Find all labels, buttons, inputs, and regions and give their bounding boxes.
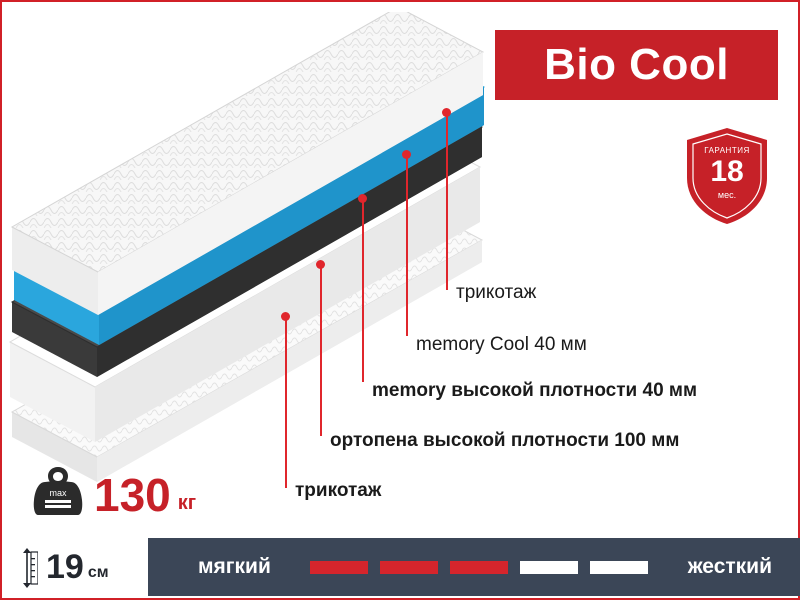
weight-max-icon: max [32,464,84,518]
leader-line-2 [406,154,408,336]
firmness-hard-label: жесткий [688,555,772,579]
product-title-badge: Bio Cool [495,30,778,100]
leader-line-4 [320,264,322,436]
layer-label-1: трикотаж [456,282,536,304]
guarantee-value: 18 [683,156,771,188]
leader-dot-1 [442,108,451,117]
max-weight-value: 130 [94,472,171,518]
height-block: 19 см [4,538,148,596]
max-weight-block: max 130 кг [32,464,196,518]
leader-line-5 [285,316,287,488]
firmness-soft-label: мягкий [198,555,271,579]
leader-dot-3 [358,194,367,203]
leader-dot-5 [281,312,290,321]
weight-icon-text: max [49,488,67,498]
guarantee-top-label: ГАРАНТИЯ [683,146,771,155]
guarantee-shield: ГАРАНТИЯ 18 мес. [683,126,771,226]
product-card: Bio Cool ГАРАНТИЯ 18 мес. [0,0,800,600]
ruler-icon [16,547,38,587]
layer-label-4: ортопена высокой плотности 100 мм [330,430,679,452]
mattress-illustration [2,12,502,482]
leader-dot-4 [316,260,325,269]
firmness-segment-3 [450,561,508,574]
height-value: 19 [46,550,84,584]
firmness-scale [271,561,688,574]
layer-label-2: memory Cool 40 мм [416,334,587,356]
layer-label-3: memory высокой плотности 40 мм [372,380,697,402]
bottom-spec-bar: 19 см мягкий жесткий [4,538,800,596]
leader-line-3 [362,198,364,382]
page-title: Bio Cool [544,40,729,90]
leader-dot-2 [402,150,411,159]
firmness-segment-2 [380,561,438,574]
max-weight-unit: кг [178,492,196,515]
firmness-segment-1 [310,561,368,574]
firmness-segment-5 [590,561,648,574]
leader-line-1 [446,112,448,290]
layer-label-5: трикотаж [295,480,381,502]
height-unit: см [88,564,109,582]
guarantee-bottom-label: мес. [683,190,771,200]
firmness-segment-4 [520,561,578,574]
